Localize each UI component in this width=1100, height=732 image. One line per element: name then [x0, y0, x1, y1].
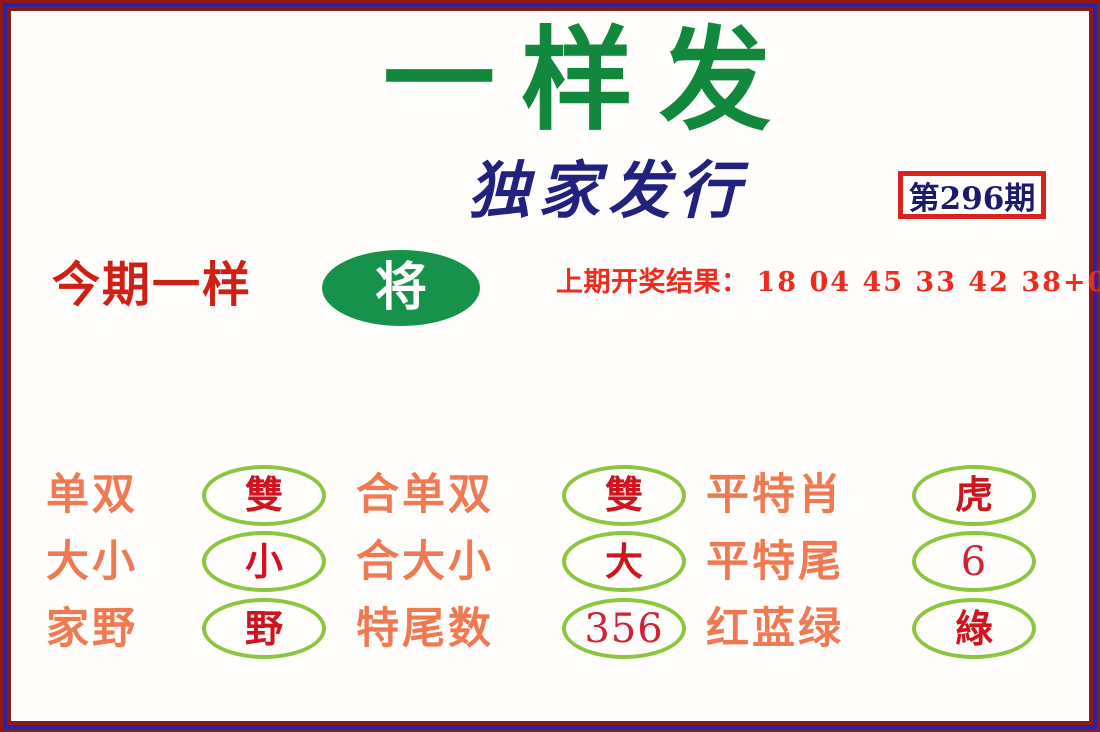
grid-cell: 单双 雙	[46, 462, 356, 529]
grid-label: 大小	[46, 538, 196, 586]
previous-draw-result: 上期开奖结果：18 04 45 33 42 38+05	[556, 267, 1100, 299]
tip-value-text: 将	[375, 260, 427, 316]
grid-label: 合单双	[356, 471, 556, 519]
grid-cell: 特尾数 356	[356, 595, 706, 662]
grid-cell: 红蓝绿 綠	[706, 595, 1058, 662]
main-title: 一样发	[280, 22, 900, 140]
grid-value-oval: 野	[202, 598, 326, 659]
grid-cell: 平特尾 6	[706, 529, 1058, 596]
grid-value: 356	[584, 608, 663, 650]
tip-label: 今期一样	[52, 258, 252, 312]
grid-cell: 合单双 雙	[356, 462, 706, 529]
grid-cell: 平特肖 虎	[706, 462, 1058, 529]
grid-value-oval: 大	[562, 531, 686, 592]
grid-cell: 家野 野	[46, 595, 356, 662]
tip-value-ellipse: 将	[322, 250, 480, 326]
issue-number-badge: 第296期	[898, 171, 1046, 219]
grid-value: 大	[605, 541, 643, 583]
grid-label: 红蓝绿	[706, 605, 906, 653]
previous-draw-label: 上期开奖结果：	[556, 267, 749, 298]
grid-value-oval: 綠	[912, 598, 1036, 659]
grid-label: 家野	[46, 605, 196, 653]
grid-value-oval: 6	[912, 531, 1036, 592]
grid-value: 虎	[955, 474, 993, 516]
issue-number-text: 第296期	[909, 173, 1036, 218]
grid-cell: 大小 小	[46, 529, 356, 596]
grid-label: 平特肖	[706, 471, 906, 519]
grid-value: 小	[245, 541, 283, 583]
grid-value-oval: 雙	[562, 465, 686, 526]
grid-value: 雙	[605, 474, 643, 516]
grid-label: 平特尾	[706, 538, 906, 586]
prediction-grid: 单双 雙 合单双 雙 平特肖 虎 大小 小 合大小 大	[46, 462, 1058, 662]
grid-value: 6	[961, 541, 987, 583]
grid-value: 綠	[955, 608, 993, 650]
sub-title: 独家发行	[468, 158, 748, 224]
grid-value-oval: 356	[562, 598, 686, 659]
lottery-poster: 一样发 独家发行 第296期 今期一样 将 上期开奖结果：18 04 45 33…	[0, 0, 1100, 732]
grid-value-oval: 小	[202, 531, 326, 592]
previous-draw-numbers: 18 04 45 33 42 38+05	[757, 267, 1100, 298]
grid-value-oval: 雙	[202, 465, 326, 526]
grid-value: 雙	[245, 474, 283, 516]
grid-value-oval: 虎	[912, 465, 1036, 526]
grid-label: 特尾数	[356, 605, 556, 653]
grid-value: 野	[245, 608, 283, 650]
grid-cell: 合大小 大	[356, 529, 706, 596]
grid-label: 单双	[46, 471, 196, 519]
grid-label: 合大小	[356, 538, 556, 586]
